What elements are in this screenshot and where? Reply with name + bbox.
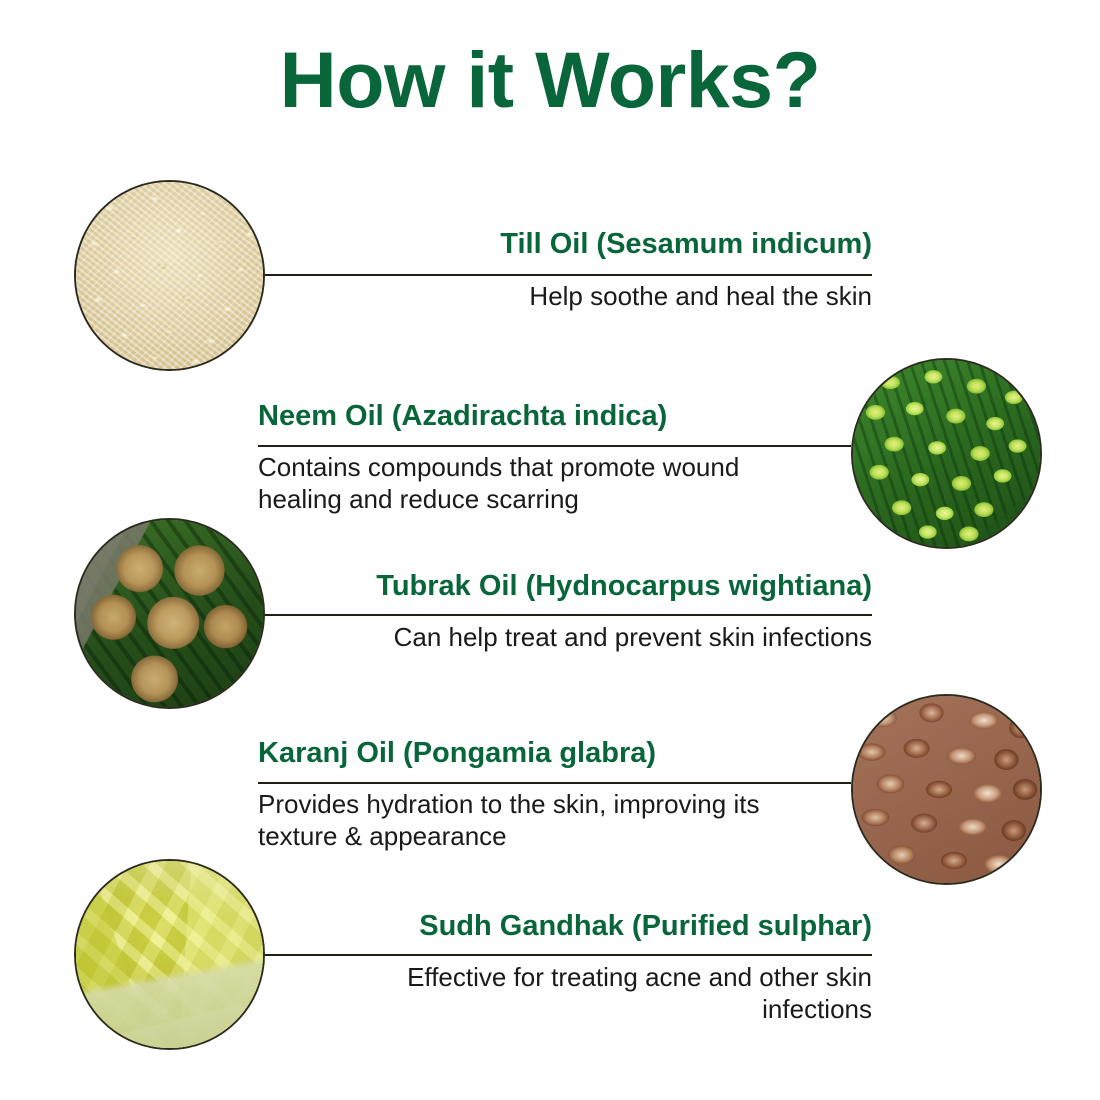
sulphur-crystals-texture: [76, 861, 263, 1048]
tubrak-fruits-texture: [76, 520, 263, 707]
sudh-gandhak-desc-block: Effective for treating acne and other sk…: [322, 962, 872, 1025]
neem-oil-text-block: Neem Oil (Azadirachta indica): [258, 400, 818, 432]
tubrak-fruits-image: [74, 518, 265, 709]
sudh-gandhak-description: Effective for treating acne and other sk…: [322, 962, 872, 1025]
connector-line-neem-oil: [258, 445, 851, 447]
sudh-gandhak-text-block: Sudh Gandhak (Purified sulphar): [322, 910, 872, 942]
sesame-seeds-image: [74, 180, 265, 371]
karanj-seeds-image: [851, 694, 1042, 885]
sudh-gandhak-heading: Sudh Gandhak (Purified sulphar): [322, 910, 872, 942]
karanj-oil-text-block: Karanj Oil (Pongamia glabra): [258, 737, 818, 769]
neem-fruits-texture: [853, 360, 1040, 547]
till-oil-desc-block: Help soothe and heal the skin: [372, 281, 872, 313]
till-oil-description: Help soothe and heal the skin: [372, 281, 872, 313]
karanj-oil-desc-block: Provides hydration to the skin, improvin…: [258, 789, 803, 852]
connector-line-karanj-oil: [258, 782, 851, 784]
sesame-seeds-texture: [76, 182, 263, 369]
tubrak-oil-heading: Tubrak Oil (Hydnocarpus wightiana): [292, 570, 872, 602]
connector-line-tubrak-oil: [265, 614, 872, 616]
neem-oil-heading: Neem Oil (Azadirachta indica): [258, 400, 818, 432]
karanj-seeds-texture: [853, 696, 1040, 883]
till-oil-text-block: Till Oil (Sesamum indicum): [372, 228, 872, 260]
neem-fruits-image: [851, 358, 1042, 549]
tubrak-oil-description: Can help treat and prevent skin infectio…: [292, 622, 872, 654]
connector-line-sudh-gandhak: [265, 954, 872, 956]
till-oil-heading: Till Oil (Sesamum indicum): [372, 228, 872, 260]
tubrak-oil-desc-block: Can help treat and prevent skin infectio…: [292, 622, 872, 654]
tubrak-oil-text-block: Tubrak Oil (Hydnocarpus wightiana): [292, 570, 872, 602]
karanj-oil-heading: Karanj Oil (Pongamia glabra): [258, 737, 818, 769]
karanj-oil-description: Provides hydration to the skin, improvin…: [258, 789, 803, 852]
sulphur-crystals-image: [74, 859, 265, 1050]
neem-oil-desc-block: Contains compounds that promote wound he…: [258, 452, 818, 515]
connector-line-till-oil: [265, 274, 872, 276]
neem-oil-description: Contains compounds that promote wound he…: [258, 452, 818, 515]
page-title: How it Works?: [0, 40, 1100, 119]
